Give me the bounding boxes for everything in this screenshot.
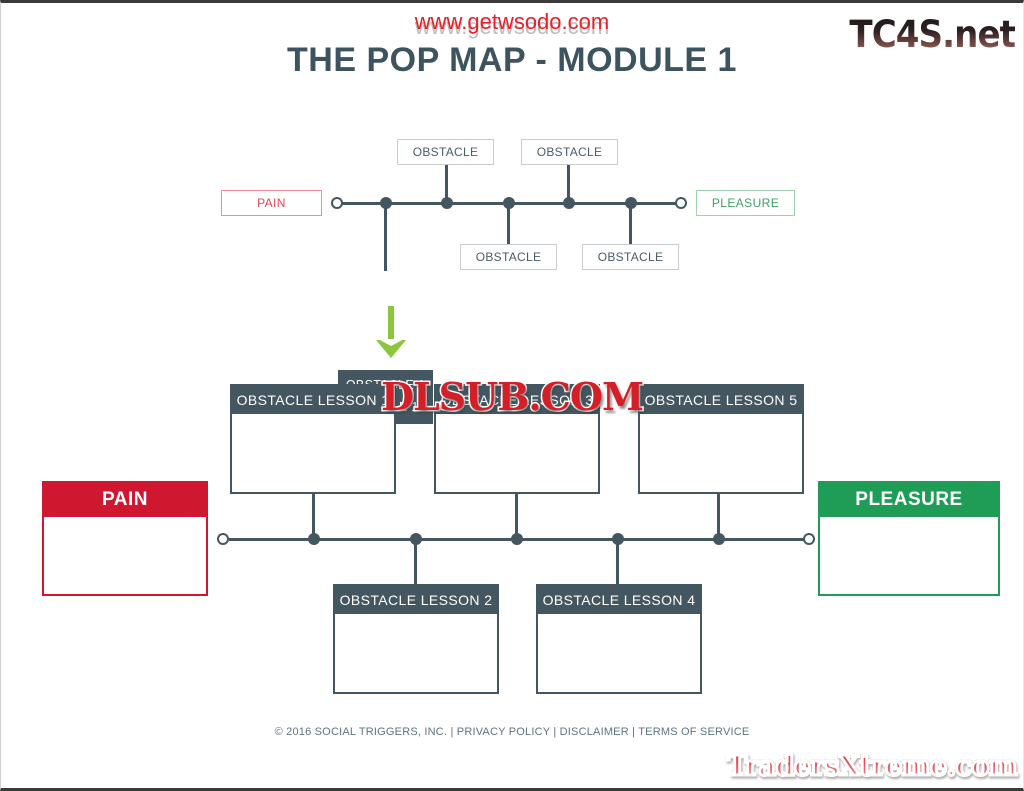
module-connector-4 <box>616 539 619 585</box>
lesson-card-1-body[interactable] <box>232 414 394 492</box>
lesson-card-2[interactable]: OBSTACLE LESSON 2 <box>333 584 499 694</box>
pleasure-card[interactable]: PLEASURE <box>818 481 1000 596</box>
module-node-5[interactable] <box>713 533 725 545</box>
pain-card-body[interactable] <box>44 517 206 594</box>
lesson-card-2-body[interactable] <box>335 614 497 692</box>
lesson-card-1[interactable]: OBSTACLE LESSON 1 <box>230 384 396 494</box>
pain-card[interactable]: PAIN <box>42 481 208 596</box>
lesson-card-1-title: OBSTACLE LESSON 1 <box>232 386 394 414</box>
module-node-4[interactable] <box>612 533 624 545</box>
lesson-card-2-title: OBSTACLE LESSON 2 <box>335 586 497 614</box>
lesson-card-5[interactable]: OBSTACLE LESSON 5 <box>638 384 804 494</box>
lesson-card-3-title: OBSTACLE LESSON 3 <box>436 386 598 414</box>
pleasure-card-body[interactable] <box>820 517 998 594</box>
lesson-card-3[interactable]: OBSTACLE LESSON 3 <box>434 384 600 494</box>
pop-map-page: www.getwsodo.com www.getwsodo.com THE PO… <box>0 0 1024 791</box>
module-node-2[interactable] <box>410 533 422 545</box>
lesson-card-4-title: OBSTACLE LESSON 4 <box>538 586 700 614</box>
lesson-card-3-body[interactable] <box>436 414 598 492</box>
lesson-card-4[interactable]: OBSTACLE LESSON 4 <box>536 584 702 694</box>
pleasure-card-title: PLEASURE <box>820 483 998 517</box>
lesson-card-4-body[interactable] <box>538 614 700 692</box>
lesson-card-5-title: OBSTACLE LESSON 5 <box>640 386 802 414</box>
footer-text: © 2016 SOCIAL TRIGGERS, INC. | PRIVACY P… <box>1 726 1023 738</box>
module-start-node <box>217 533 229 545</box>
module-node-3[interactable] <box>511 533 523 545</box>
module-map: PAIN PLEASURE OBSTACLE LESSON 1 OBSTACLE… <box>1 3 1024 791</box>
module-end-node <box>803 533 815 545</box>
module-node-1[interactable] <box>308 533 320 545</box>
lesson-card-5-body[interactable] <box>640 414 802 492</box>
module-connector-2 <box>414 539 417 585</box>
pain-card-title: PAIN <box>44 483 206 517</box>
